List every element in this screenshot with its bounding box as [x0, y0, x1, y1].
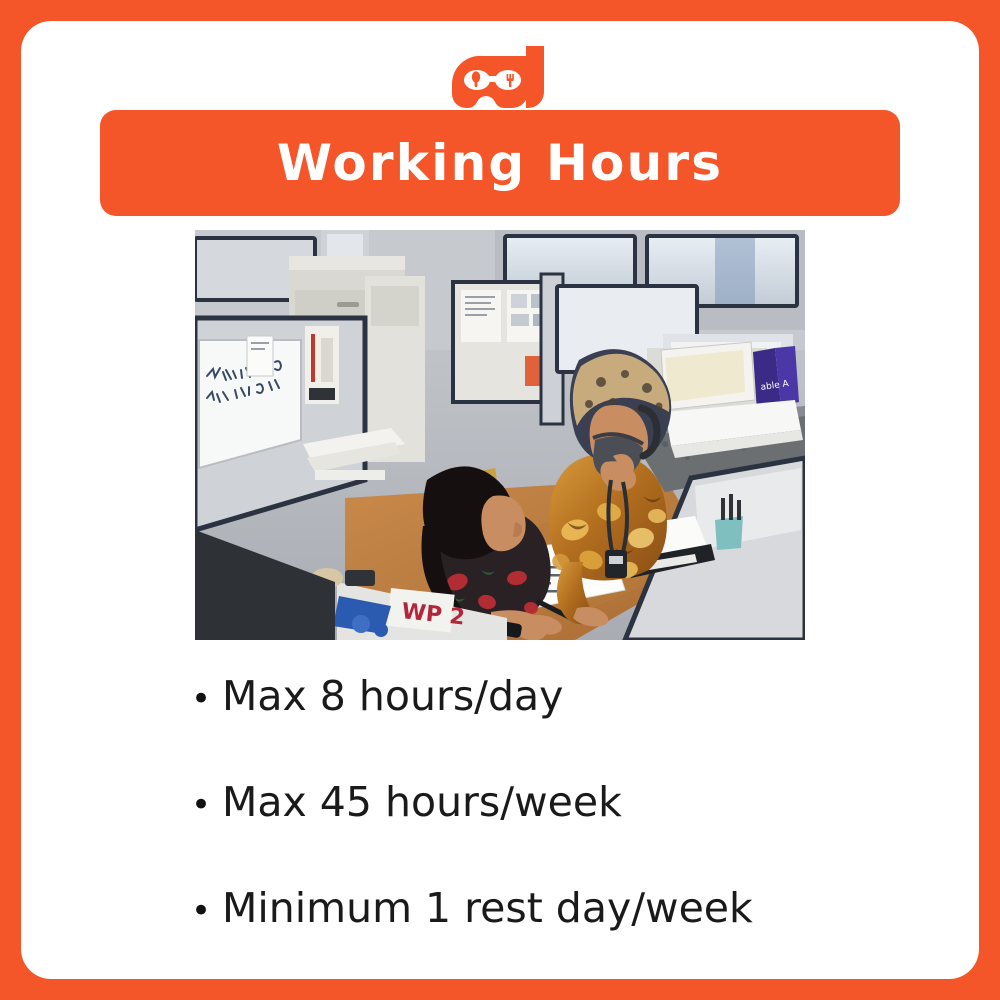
list-item: • Max 45 hours/week	[191, 782, 951, 888]
bullet-label-min-rest-day: Minimum 1 rest day/week	[222, 888, 753, 929]
page-title: Working Hours	[277, 138, 723, 188]
poster-frame: Working Hours	[0, 0, 1000, 1000]
bullet-marker-icon: •	[191, 894, 222, 928]
list-item: • Minimum 1 rest day/week	[191, 888, 951, 979]
brand-logo-goggles-spoon-fork-icon	[452, 44, 548, 110]
bullet-marker-icon: •	[191, 682, 222, 716]
poster-card: Working Hours	[21, 21, 979, 979]
bullet-label-max-hours-day: Max 8 hours/day	[222, 676, 563, 717]
bullet-list: • Max 8 hours/day • Max 45 hours/week • …	[191, 676, 951, 979]
bullet-marker-icon: •	[191, 788, 222, 822]
logo-container	[21, 37, 979, 117]
office-photo: able A	[195, 230, 805, 640]
title-banner: Working Hours	[100, 110, 900, 216]
office-photo-illustration: able A	[195, 230, 805, 640]
bullet-label-max-hours-week: Max 45 hours/week	[222, 782, 622, 823]
list-item: • Max 8 hours/day	[191, 676, 951, 782]
